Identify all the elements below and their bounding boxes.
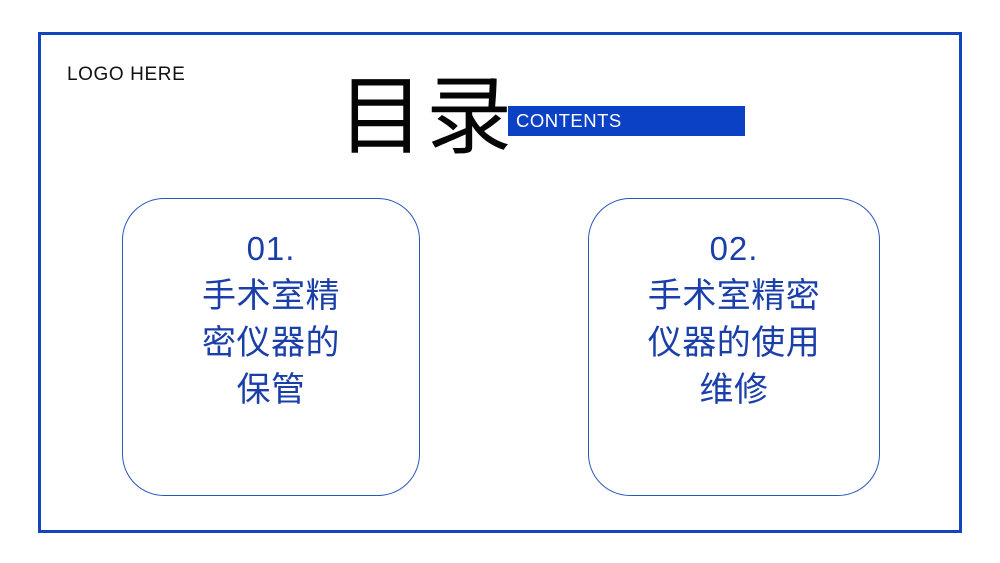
- title-block: CONTENTS 目录: [330, 70, 800, 165]
- slide-canvas: LOGO HERE CONTENTS 目录 01. 手术室精 密仪器的 保管 0…: [0, 0, 1000, 563]
- content-card-01-lines: 手术室精 密仪器的 保管: [123, 273, 419, 414]
- content-card-01-line-1: 手术室精: [123, 273, 419, 320]
- content-card-01[interactable]: 01. 手术室精 密仪器的 保管: [122, 198, 420, 496]
- page-title: 目录: [338, 70, 514, 165]
- content-card-02-lines: 手术室精密 仪器的使用 维修: [589, 273, 879, 414]
- content-card-01-line-3: 保管: [123, 367, 419, 414]
- contents-badge: CONTENTS: [508, 106, 745, 136]
- content-card-01-line-2: 密仪器的: [123, 320, 419, 367]
- content-card-01-number: 01.: [123, 227, 419, 271]
- content-card-02-inner: 02. 手术室精密 仪器的使用 维修: [589, 227, 879, 414]
- content-card-02-line-1: 手术室精密: [589, 273, 879, 320]
- content-card-02-number: 02.: [589, 227, 879, 271]
- contents-badge-label: CONTENTS: [516, 112, 622, 131]
- content-card-02-line-3: 维修: [589, 367, 879, 414]
- content-card-02-line-2: 仪器的使用: [589, 320, 879, 367]
- content-card-02[interactable]: 02. 手术室精密 仪器的使用 维修: [588, 198, 880, 496]
- logo-placeholder: LOGO HERE: [67, 65, 185, 84]
- content-card-01-inner: 01. 手术室精 密仪器的 保管: [123, 227, 419, 414]
